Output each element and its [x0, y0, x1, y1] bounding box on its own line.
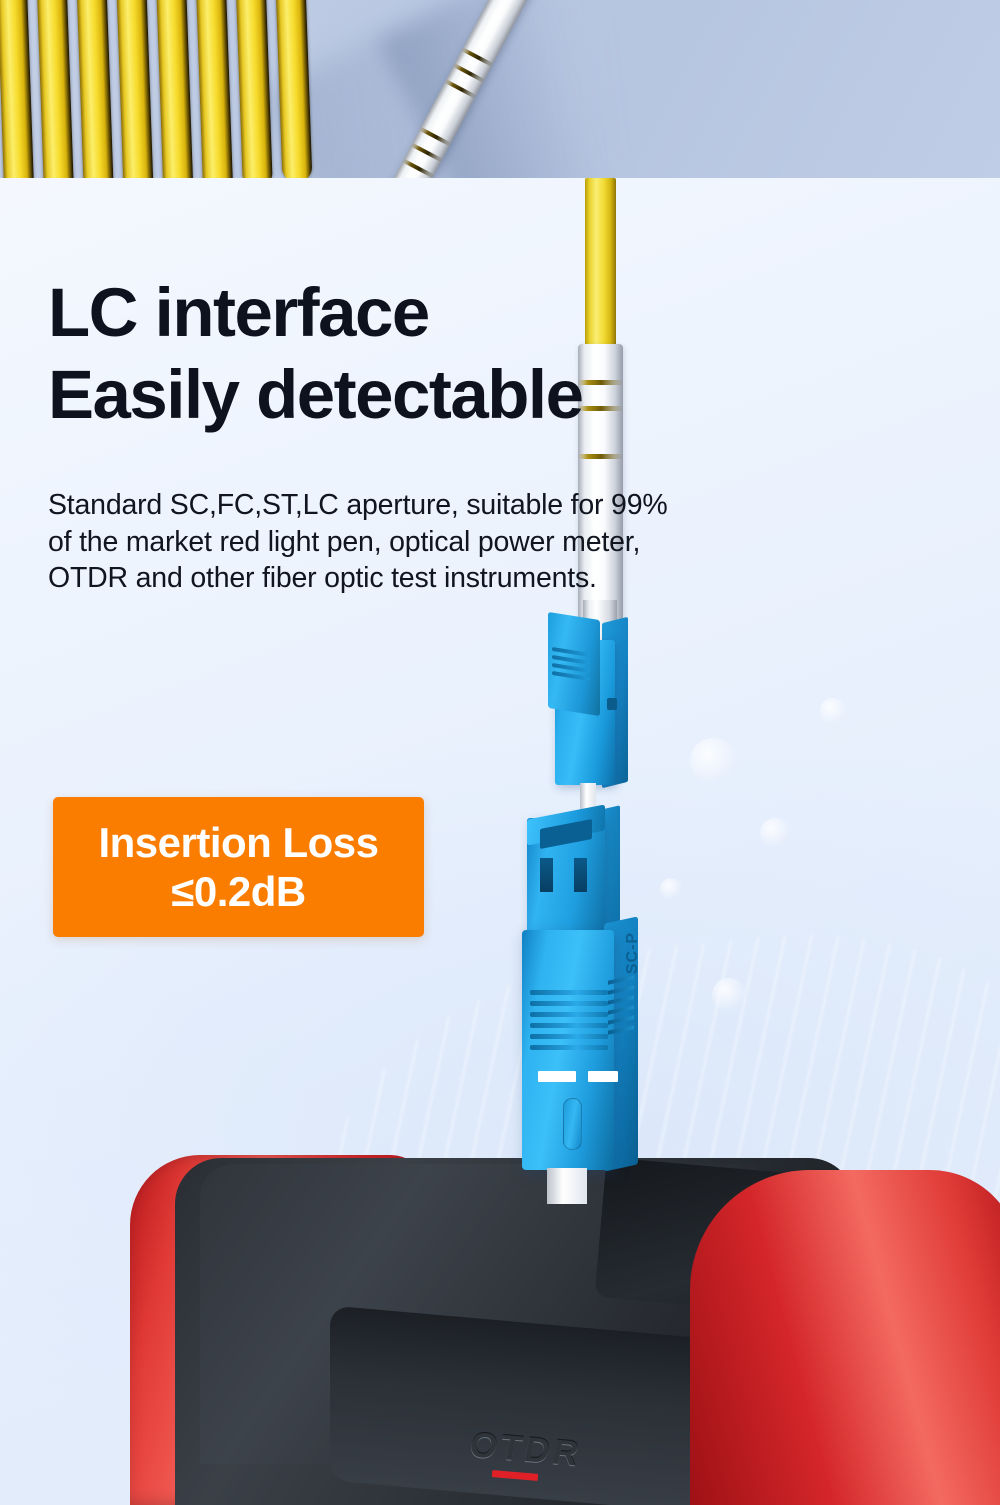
yellow-fiber-cable — [585, 178, 616, 350]
sc-connector-ribs — [530, 990, 608, 1054]
page-subcopy: Standard SC,FC,ST,LC aperture, suitable … — [48, 487, 888, 597]
adapter-slot — [574, 858, 587, 892]
page-headline: LC interface Easily detectable — [48, 272, 582, 436]
badge-title: Insertion Loss — [98, 818, 378, 867]
lc-connector-keyhole — [607, 698, 617, 710]
sc-push-tab — [563, 1098, 582, 1150]
sc-connector-label: SC-P — [624, 932, 642, 974]
subcopy-line-1: Standard SC,FC,ST,LC aperture, suitable … — [48, 487, 888, 524]
sc-marking — [538, 1071, 576, 1082]
headline-line-1: LC interface — [48, 274, 429, 351]
insertion-loss-badge: Insertion Loss ≤0.2dB — [53, 797, 424, 937]
headline-line-2: Easily detectable — [48, 354, 582, 436]
adapter-slot — [540, 858, 553, 892]
sc-marking — [588, 1071, 618, 1082]
connector-assembly-illustration: SC-P — [0, 0, 1000, 1505]
subcopy-line-3: OTDR and other fiber optic test instrume… — [48, 560, 888, 597]
sc-ferrule — [547, 1168, 587, 1204]
sc-connector-side-ribs — [608, 975, 634, 1051]
subcopy-line-2: of the market red light pen, optical pow… — [48, 524, 888, 561]
badge-value: ≤0.2dB — [171, 867, 305, 916]
product-marketing-image: SC-P OTDR LC interface Easily detectable… — [0, 0, 1000, 1505]
lc-latch-ribs — [552, 650, 590, 686]
